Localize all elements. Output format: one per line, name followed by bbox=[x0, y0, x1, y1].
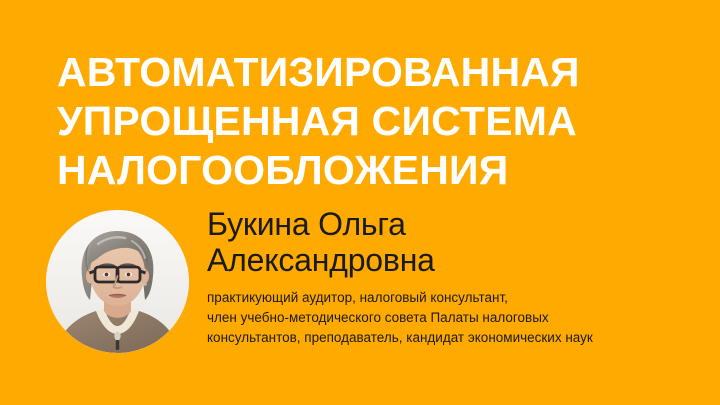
title-line-3: НАЛОГООБЛОЖЕНИЯ bbox=[57, 146, 667, 195]
speaker-name-line-2: Александровна bbox=[207, 242, 707, 278]
speaker-credentials: практикующий аудитор, налоговый консульт… bbox=[207, 288, 707, 348]
title-line-1: АВТОМАТИЗИРОВАННАЯ bbox=[57, 48, 667, 97]
speaker-name: Букина Ольга Александровна bbox=[207, 206, 707, 278]
presentation-slide: АВТОМАТИЗИРОВАННАЯ УПРОЩЕННАЯ СИСТЕМА НА… bbox=[0, 0, 720, 405]
speaker-info: Букина Ольга Александровна практикующий … bbox=[207, 206, 707, 348]
speaker-name-line-1: Букина Ольга bbox=[207, 206, 707, 242]
speaker-portrait-photo-icon bbox=[46, 210, 189, 353]
speaker-credentials-line-1: практикующий аудитор, налоговый консульт… bbox=[207, 288, 707, 308]
speaker-credentials-line-2: член учебно-методического совета Палаты … bbox=[207, 308, 707, 328]
speaker-avatar bbox=[46, 210, 189, 353]
slide-title: АВТОМАТИЗИРОВАННАЯ УПРОЩЕННАЯ СИСТЕМА НА… bbox=[57, 48, 667, 195]
title-line-2: УПРОЩЕННАЯ СИСТЕМА bbox=[57, 97, 667, 146]
speaker-credentials-line-3: консультантов, преподаватель, кандидат э… bbox=[207, 328, 707, 348]
